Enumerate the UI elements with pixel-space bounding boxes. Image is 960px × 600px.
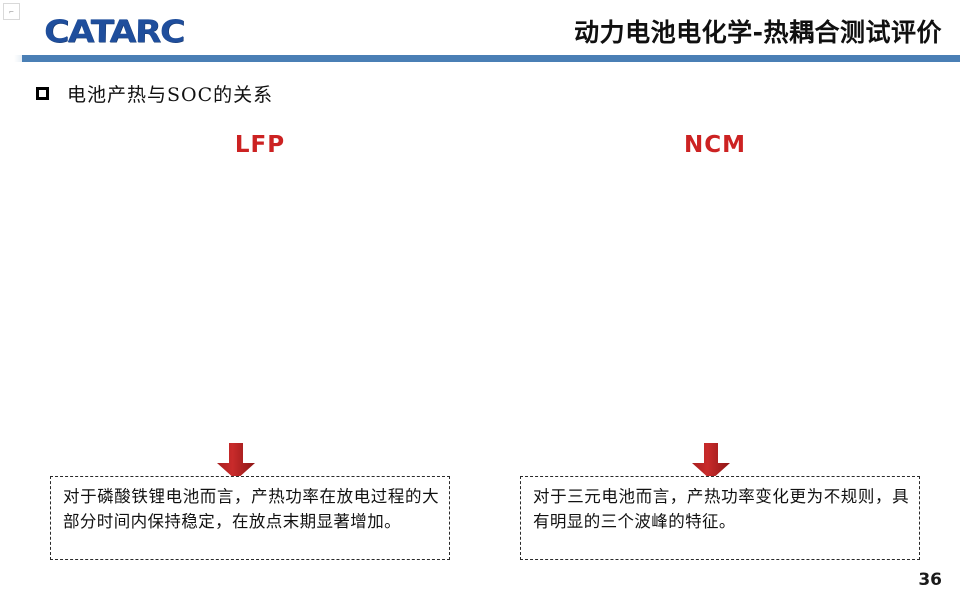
slide-root: ⌐ CATARC 动力电池电化学-热耦合测试评价 电池产热与SOC的关系 LFP… — [0, 0, 960, 600]
page-title: 动力电池电化学-热耦合测试评价 — [574, 13, 942, 49]
slide-header: CATARC 动力电池电化学-热耦合测试评价 — [0, 0, 960, 54]
page-number: 36 — [918, 570, 942, 590]
callout-left-text: 对于磷酸铁锂电池而言，产热功率在放电过程的大部分时间内保持稳定，在放点末期显著增… — [63, 484, 439, 534]
bullet-heading-label: 电池产热与SOC的关系 — [67, 80, 273, 107]
callout-right: 对于三元电池而言，产热功率变化更为不规则，具有明显的三个波峰的特征。 — [520, 476, 920, 560]
callout-left: 对于磷酸铁锂电池而言，产热功率在放电过程的大部分时间内保持稳定，在放点末期显著增… — [50, 476, 450, 560]
chart-lfp: LFP — [60, 132, 460, 432]
header-rule — [22, 55, 960, 62]
chart-ncm-title: NCM — [505, 132, 925, 158]
bullet-square-icon — [36, 87, 49, 100]
callout-right-text: 对于三元电池而言，产热功率变化更为不规则，具有明显的三个波峰的特征。 — [533, 484, 909, 534]
chart-lfp-title: LFP — [60, 132, 460, 158]
catarc-logo: CATARC — [44, 14, 184, 50]
bullet-heading: 电池产热与SOC的关系 — [36, 80, 273, 107]
chart-ncm: NCM — [505, 132, 925, 432]
